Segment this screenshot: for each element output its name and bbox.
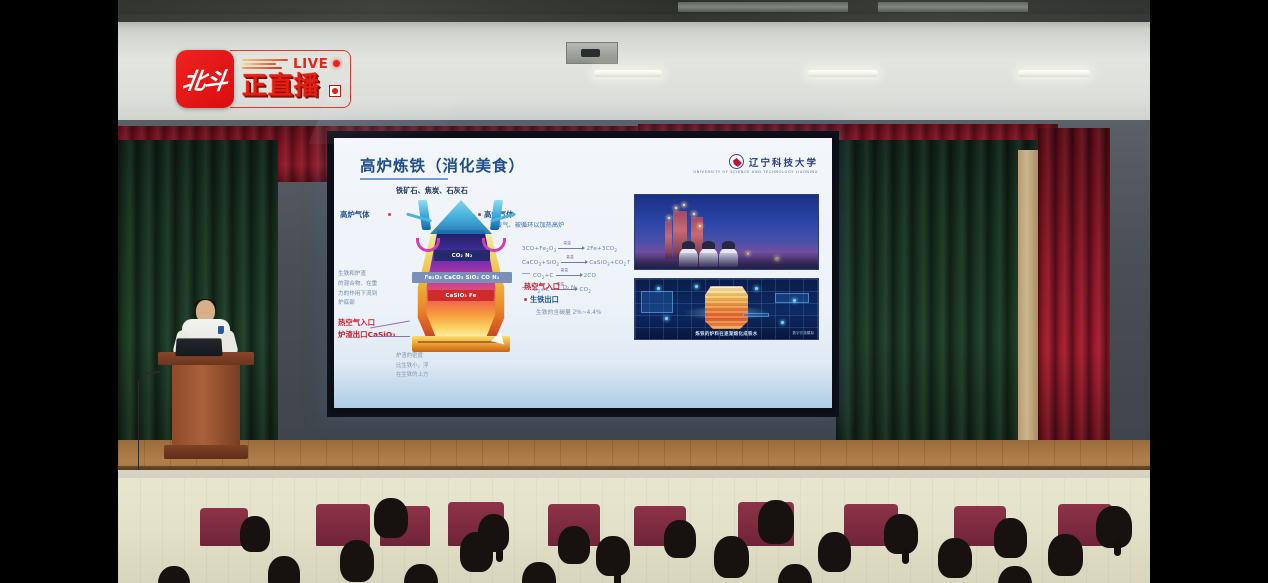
hot-air-text: 热空气入口: [524, 282, 560, 291]
furnace-illustration: CO₂ N₂ Fe₂O₃ CaCO₃ SiO₂ CO N₂ CaSiO₃ Fe: [406, 194, 516, 354]
audience-head: [240, 516, 270, 552]
university-name: 辽宁科技大学: [749, 155, 818, 169]
live-recording-dot-icon: [333, 60, 340, 67]
diagram-gas-label-left: 高炉气体: [340, 210, 370, 219]
furnace-zone-label-top: CO₂ N₂: [434, 250, 490, 261]
ceiling-light: [594, 70, 662, 77]
leader-line: [370, 321, 410, 329]
diagram-left-paragraph: 生铁和炉渣 的混合物，在重 力的作用下流到 炉底部: [338, 270, 377, 309]
audience-head: [1048, 534, 1083, 576]
live-label: LIVE: [293, 56, 328, 72]
photo-blast-furnace-plant: [634, 194, 819, 270]
audience-head: [778, 564, 812, 583]
bullet-dot-icon: [388, 213, 391, 216]
audience-ponytail: [1114, 540, 1121, 556]
simulation-tag: 数字仿真模拟: [792, 331, 814, 336]
ceiling-projector-mount: [566, 42, 618, 64]
audience-head: [340, 540, 374, 582]
plant-light: [668, 217, 670, 219]
simulation-node: [695, 285, 698, 288]
simulation-node: [657, 287, 660, 290]
slide-title-underline: [360, 178, 448, 180]
audience-head: [664, 520, 696, 558]
podium: [164, 352, 248, 462]
audience-head: [884, 514, 918, 554]
streak: [242, 67, 282, 69]
photo-furnace-simulation: 炼铁的炉料在逐渐熔化成铁水 数字仿真模拟: [634, 278, 819, 340]
furnace-zone-label-middle: Fe₂O₃ CaCO₃ SiO₂ CO N₂: [412, 272, 512, 283]
audience-head: [994, 518, 1027, 558]
audience-head: [404, 564, 438, 583]
audience-head: [714, 536, 749, 578]
live-broadcast-badge: 北斗 LIVE 正直播: [176, 50, 351, 108]
furnace-charging-hopper-right: [490, 200, 503, 230]
simulation-side-panel: [743, 313, 769, 317]
audience-head: [998, 566, 1032, 583]
podium-laptop: [175, 338, 222, 356]
diagram-hot-air-inlet-label: 热空气入口: [338, 318, 375, 327]
plant-light: [675, 207, 677, 209]
ceiling-vent: [678, 2, 848, 12]
audience-head: [818, 532, 851, 572]
audience-head: [374, 498, 408, 538]
carbon-content-label: 生铁的含碳量 2%~4.4%: [536, 307, 601, 316]
university-seal-icon: [729, 154, 744, 169]
diagram-bottom-note: 炉渣的密度 比生铁小，浮 在生铁的上方: [396, 352, 428, 381]
hot-air-inlet-right-label: 热空气入口 O₂ N₂: [524, 282, 577, 292]
simulation-node: [781, 321, 784, 324]
audience-head: [596, 536, 630, 576]
audience-head: [460, 532, 493, 572]
pig-iron-outlet-label: 生铁出口: [530, 295, 559, 305]
podium-base: [164, 445, 248, 459]
bullet-dot-icon: [524, 298, 527, 301]
wall-pillar: [1018, 150, 1040, 460]
audience-ponytail: [496, 546, 503, 562]
live-cn-text: 正直播: [242, 71, 320, 100]
simulation-caption: 炼铁的炉料在逐渐熔化成铁水: [635, 331, 818, 337]
channel-logo: 北斗: [176, 50, 234, 108]
simulation-node: [793, 299, 796, 302]
hot-air-gases: O₂ N₂: [562, 285, 577, 291]
broadcast-screenshot: 高炉炼铁（消化美食） 辽宁科技大学 UNIVERSITY OF SCIENCE …: [0, 0, 1268, 583]
simulation-node: [755, 287, 758, 290]
photo-ground: [635, 253, 818, 269]
plant-light: [683, 204, 685, 206]
audience-ponytail: [614, 570, 621, 583]
ceiling-light: [808, 70, 878, 77]
streak: [242, 59, 288, 61]
presentation-slide[interactable]: 高炉炼铁（消化美食） 辽宁科技大学 UNIVERSITY OF SCIENCE …: [334, 138, 832, 408]
simulation-node: [665, 317, 668, 320]
audience-head: [522, 562, 556, 583]
ceiling-light: [1018, 70, 1090, 77]
furnace-charging-hopper-left: [418, 200, 431, 230]
live-badge-body: LIVE 正直播: [230, 50, 351, 108]
letterbox-right: [1150, 0, 1268, 583]
furnace-top-cone: [430, 200, 492, 234]
simulation-side-panel: [775, 293, 809, 303]
leader-line: [372, 336, 410, 337]
live-row: LIVE: [242, 55, 340, 72]
audience-head: [268, 556, 300, 583]
audience-ponytail: [902, 548, 909, 564]
speed-streaks-icon: [242, 59, 288, 69]
channel-logo-text: 北斗: [181, 62, 230, 96]
podium-body: [172, 365, 240, 445]
furnace-zone-label-bottom: CaSiO₃ Fe: [428, 290, 494, 301]
auditorium-wall: [118, 478, 1150, 583]
university-logo: 辽宁科技大学: [729, 154, 818, 169]
plant-light: [693, 213, 695, 215]
stamp-icon: [329, 85, 341, 97]
red-stage-curtain-right: [1038, 128, 1110, 470]
green-stage-curtain-right: [836, 140, 1046, 470]
university-subtitle: UNIVERSITY OF SCIENCE AND TECHNOLOGY LIA…: [693, 170, 818, 174]
audience-head: [758, 500, 794, 544]
diagram-slag-outlet-label: 炉渣出口CaSiO₃: [338, 330, 395, 339]
floor-cable: [138, 380, 139, 470]
ceiling-vent: [878, 2, 1028, 12]
audience-head: [158, 566, 190, 583]
simulation-side-panel: [641, 291, 673, 313]
slide-title: 高炉炼铁（消化美食）: [360, 154, 525, 176]
letterbox-left: [0, 0, 118, 583]
audience-head: [558, 526, 590, 564]
projector-lens: [581, 49, 600, 57]
streak: [242, 63, 276, 65]
simulated-furnace-body: [705, 286, 749, 329]
plant-light: [699, 225, 701, 227]
live-cn-label: 正直播: [242, 73, 340, 98]
audience-head: [938, 538, 972, 578]
